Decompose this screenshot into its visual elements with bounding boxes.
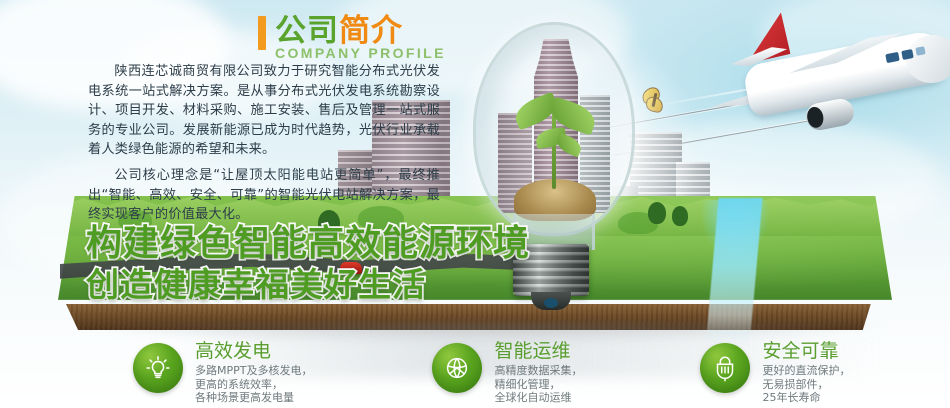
feature-desc-line: 更高的系统效率，: [195, 378, 312, 392]
feature-description: 高精度数据采集， 精细化管理， 全球化自动运维: [494, 364, 582, 405]
feature-desc-line: 25年长寿命: [762, 391, 850, 405]
feature-desc-line: 全球化自动运维: [494, 391, 582, 405]
feature-description: 多路MPPT及多核发电， 更高的系统效率， 各种场景更高发电量: [195, 364, 312, 405]
intro-text: 陕西连芯诚商贸有限公司致力于研究智能分布式光伏发电系统一站式解决方案。是从事分布…: [88, 62, 440, 231]
feature-item-safe-reliable[interactable]: 安全可靠 更好的直流保护， 无易损部件， 25年长寿命: [700, 340, 850, 408]
lightbulb-icon: [133, 343, 183, 393]
feature-title: 高效发电: [195, 340, 312, 362]
heading-accent-bar: [258, 16, 266, 50]
feature-list: 高效发电 多路MPPT及多核发电， 更高的系统效率， 各种场景更高发电量 智能运…: [0, 340, 950, 408]
feature-desc-line: 多路MPPT及多核发电，: [195, 364, 312, 378]
company-profile-banner: 公司简介 COMPANY PROFILE 陕西连芯诚商贸有限公司致力于研究智能分…: [0, 0, 950, 408]
feature-item-smart-om[interactable]: 智能运维 高精度数据采集， 精细化管理， 全球化自动运维: [432, 340, 582, 408]
tree: [672, 206, 688, 226]
feature-desc-line: 各种场景更高发电量: [195, 391, 312, 405]
page-title-green: 公司: [275, 13, 339, 49]
feature-text: 高效发电 多路MPPT及多核发电， 更高的系统效率， 各种场景更高发电量: [195, 340, 312, 405]
feature-desc-line: 高精度数据采集，: [494, 364, 582, 378]
feature-description: 更好的直流保护， 无易损部件， 25年长寿命: [762, 364, 850, 405]
feature-desc-line: 更好的直流保护，: [762, 364, 850, 378]
page-title: 公司简介: [275, 14, 446, 48]
feature-item-efficient-power[interactable]: 高效发电 多路MPPT及多核发电， 更高的系统效率， 各种场景更高发电量: [133, 340, 312, 408]
feature-desc-line: 精细化管理，: [494, 378, 582, 392]
tree: [648, 202, 666, 224]
bulb-glass: [473, 22, 635, 236]
feature-title: 智能运维: [494, 340, 582, 362]
shield-plug-icon: [700, 343, 750, 393]
airplane-icon: [690, 5, 950, 150]
feature-text: 安全可靠 更好的直流保护， 无易损部件， 25年长寿命: [762, 340, 850, 405]
page-title-orange: 简介: [339, 13, 403, 49]
sprout-stem: [552, 113, 556, 189]
feature-text: 智能运维 高精度数据采集， 精细化管理， 全球化自动运维: [494, 340, 582, 405]
feature-title: 安全可靠: [762, 340, 850, 362]
globe-network-icon: [432, 343, 482, 393]
page-subtitle: COMPANY PROFILE: [275, 45, 446, 61]
intro-paragraph-1: 陕西连芯诚商贸有限公司致力于研究智能分布式光伏发电系统一站式解决方案。是从事分布…: [88, 62, 440, 160]
slogan-line-2: 创造健康幸福美好生活: [86, 258, 646, 306]
feature-desc-line: 无易损部件，: [762, 378, 850, 392]
section-heading: 公司简介 COMPANY PROFILE: [258, 14, 446, 61]
airplane-window: [915, 46, 925, 56]
